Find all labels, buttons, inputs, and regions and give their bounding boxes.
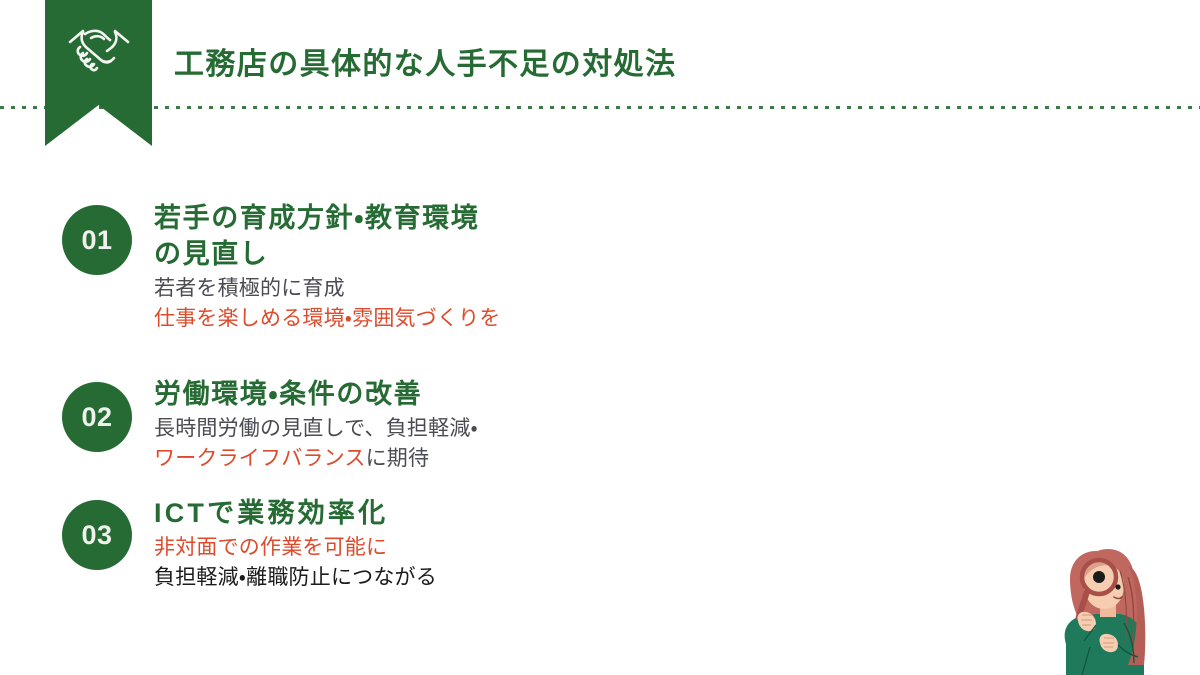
text-segment: 負担軽減・離職防止につながる xyxy=(154,566,437,589)
description-line: 非対面での作業を可能に xyxy=(154,533,437,563)
item-title: 若手の育成方針・教育環境 の見直し xyxy=(154,201,501,273)
item-title-line: の見直し xyxy=(154,237,501,273)
item-number-badge: 02 xyxy=(62,382,132,452)
description-line: 長時間労働の見直しで、負担軽減・ xyxy=(154,414,478,444)
item-description: 長時間労働の見直しで、負担軽減・ ワークライフバランスに期待 xyxy=(154,414,478,474)
description-line: 仕事を楽しめる環境・雰囲気づくりを xyxy=(154,304,501,334)
text-segment-highlight: ワークライフバランス xyxy=(154,447,366,470)
item-content: 労働環境・条件の改善 長時間労働の見直しで、負担軽減・ ワークライフバランスに期… xyxy=(154,377,478,474)
text-segment-highlight: 仕事を楽しめる環境・雰囲気づくりを xyxy=(154,307,501,330)
item-number-badge: 01 xyxy=(62,205,132,275)
description-line: ワークライフバランスに期待 xyxy=(154,444,478,474)
item-title-line: 労働環境・条件の改善 xyxy=(154,377,478,413)
item-title-line: 若手の育成方針・教育環境 xyxy=(154,201,501,237)
slide-canvas: 工務店の具体的な人手不足の対処法 01 若手の育成方針・教育環境 の見直し 若者… xyxy=(0,0,1200,675)
text-segment: 長時間労働の見直しで、負担軽減・ xyxy=(154,417,478,440)
text-segment: 若者を積極的に育成 xyxy=(154,277,345,300)
item-description: 若者を積極的に育成 仕事を楽しめる環境・雰囲気づくりを xyxy=(154,274,501,334)
items-column-left: 01 若手の育成方針・教育環境 の見直し 若者を積極的に育成 仕事を楽しめる環境… xyxy=(0,0,610,675)
description-line: 負担軽減・離職防止につながる xyxy=(154,563,437,593)
item-title: ICTで業務効率化 xyxy=(154,496,437,532)
item-content: 若手の育成方針・教育環境 の見直し 若者を積極的に育成 仕事を楽しめる環境・雰囲… xyxy=(154,201,501,333)
item-description: 非対面での作業を可能に 負担軽減・離職防止につながる xyxy=(154,533,437,593)
item-number-badge: 03 xyxy=(62,500,132,570)
description-line: 若者を積極的に育成 xyxy=(154,274,501,304)
text-segment: に期待 xyxy=(366,447,430,470)
text-segment-highlight: 非対面での作業を可能に xyxy=(154,536,387,559)
item-content: ICTで業務効率化 非対面での作業を可能に 負担軽減・離職防止につながる xyxy=(154,496,437,593)
item-title-line: ICTで業務効率化 xyxy=(154,496,437,532)
item-title: 労働環境・条件の改善 xyxy=(154,377,478,413)
woman-with-magnifying-glass-illustration xyxy=(1004,525,1194,675)
